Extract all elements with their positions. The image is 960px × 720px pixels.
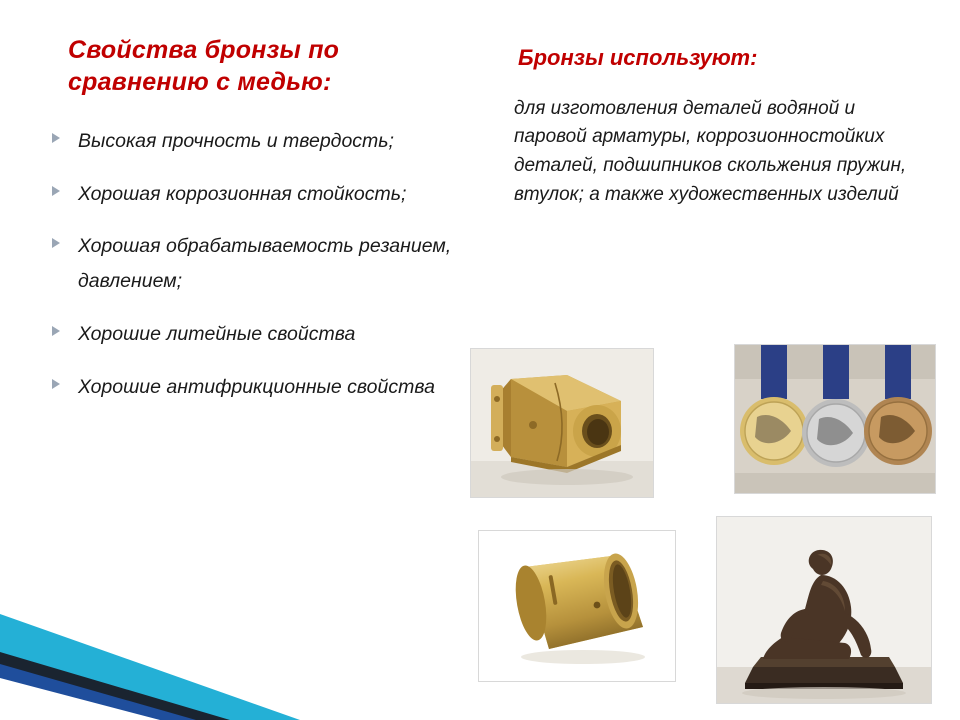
list-item: Хорошая обрабатываемость резанием, давле… [40, 229, 460, 298]
list-item: Высокая прочность и твердость; [40, 124, 460, 159]
slide: Свойства бронзы по сравнению с медью: Вы… [0, 0, 960, 720]
triangle-bullet-icon [52, 133, 60, 143]
triangle-bullet-icon [52, 186, 60, 196]
properties-bullet-list: Высокая прочность и твердость; Хорошая к… [40, 124, 460, 404]
list-item-label: Хорошие литейные свойства [78, 323, 355, 345]
list-item-label: Высокая прочность и твердость; [78, 130, 394, 152]
list-item: Хорошие литейные свойства [40, 317, 460, 352]
right-heading: Бронзы используют: [518, 44, 932, 73]
bronze-bushing-photo [470, 348, 654, 498]
list-item-label: Хорошая коррозионная стойкость; [78, 183, 406, 205]
list-item-label: Хорошая обрабатываемость резанием, давле… [78, 235, 451, 292]
usage-paragraph: для изготовления деталей водяной и паров… [514, 95, 914, 211]
left-heading: Свойства бронзы по сравнению с медью: [68, 34, 460, 98]
bronze-sleeve-photo [478, 530, 676, 682]
list-item-label: Хорошие антифрикционные свойства [78, 376, 435, 398]
triangle-bullet-icon [52, 238, 60, 248]
triangle-bullet-icon [52, 326, 60, 336]
right-column: Бронзы используют: для изготовления дета… [492, 44, 932, 210]
corner-decoration [0, 560, 300, 720]
triangle-bullet-icon [52, 379, 60, 389]
list-item: Хорошая коррозионная стойкость; [40, 177, 460, 212]
list-item: Хорошие антифрикционные свойства [40, 370, 460, 405]
left-column: Свойства бронзы по сравнению с медью: Вы… [40, 34, 460, 422]
bronze-medals-photo [734, 344, 936, 494]
bronze-sculpture-photo [716, 516, 932, 704]
